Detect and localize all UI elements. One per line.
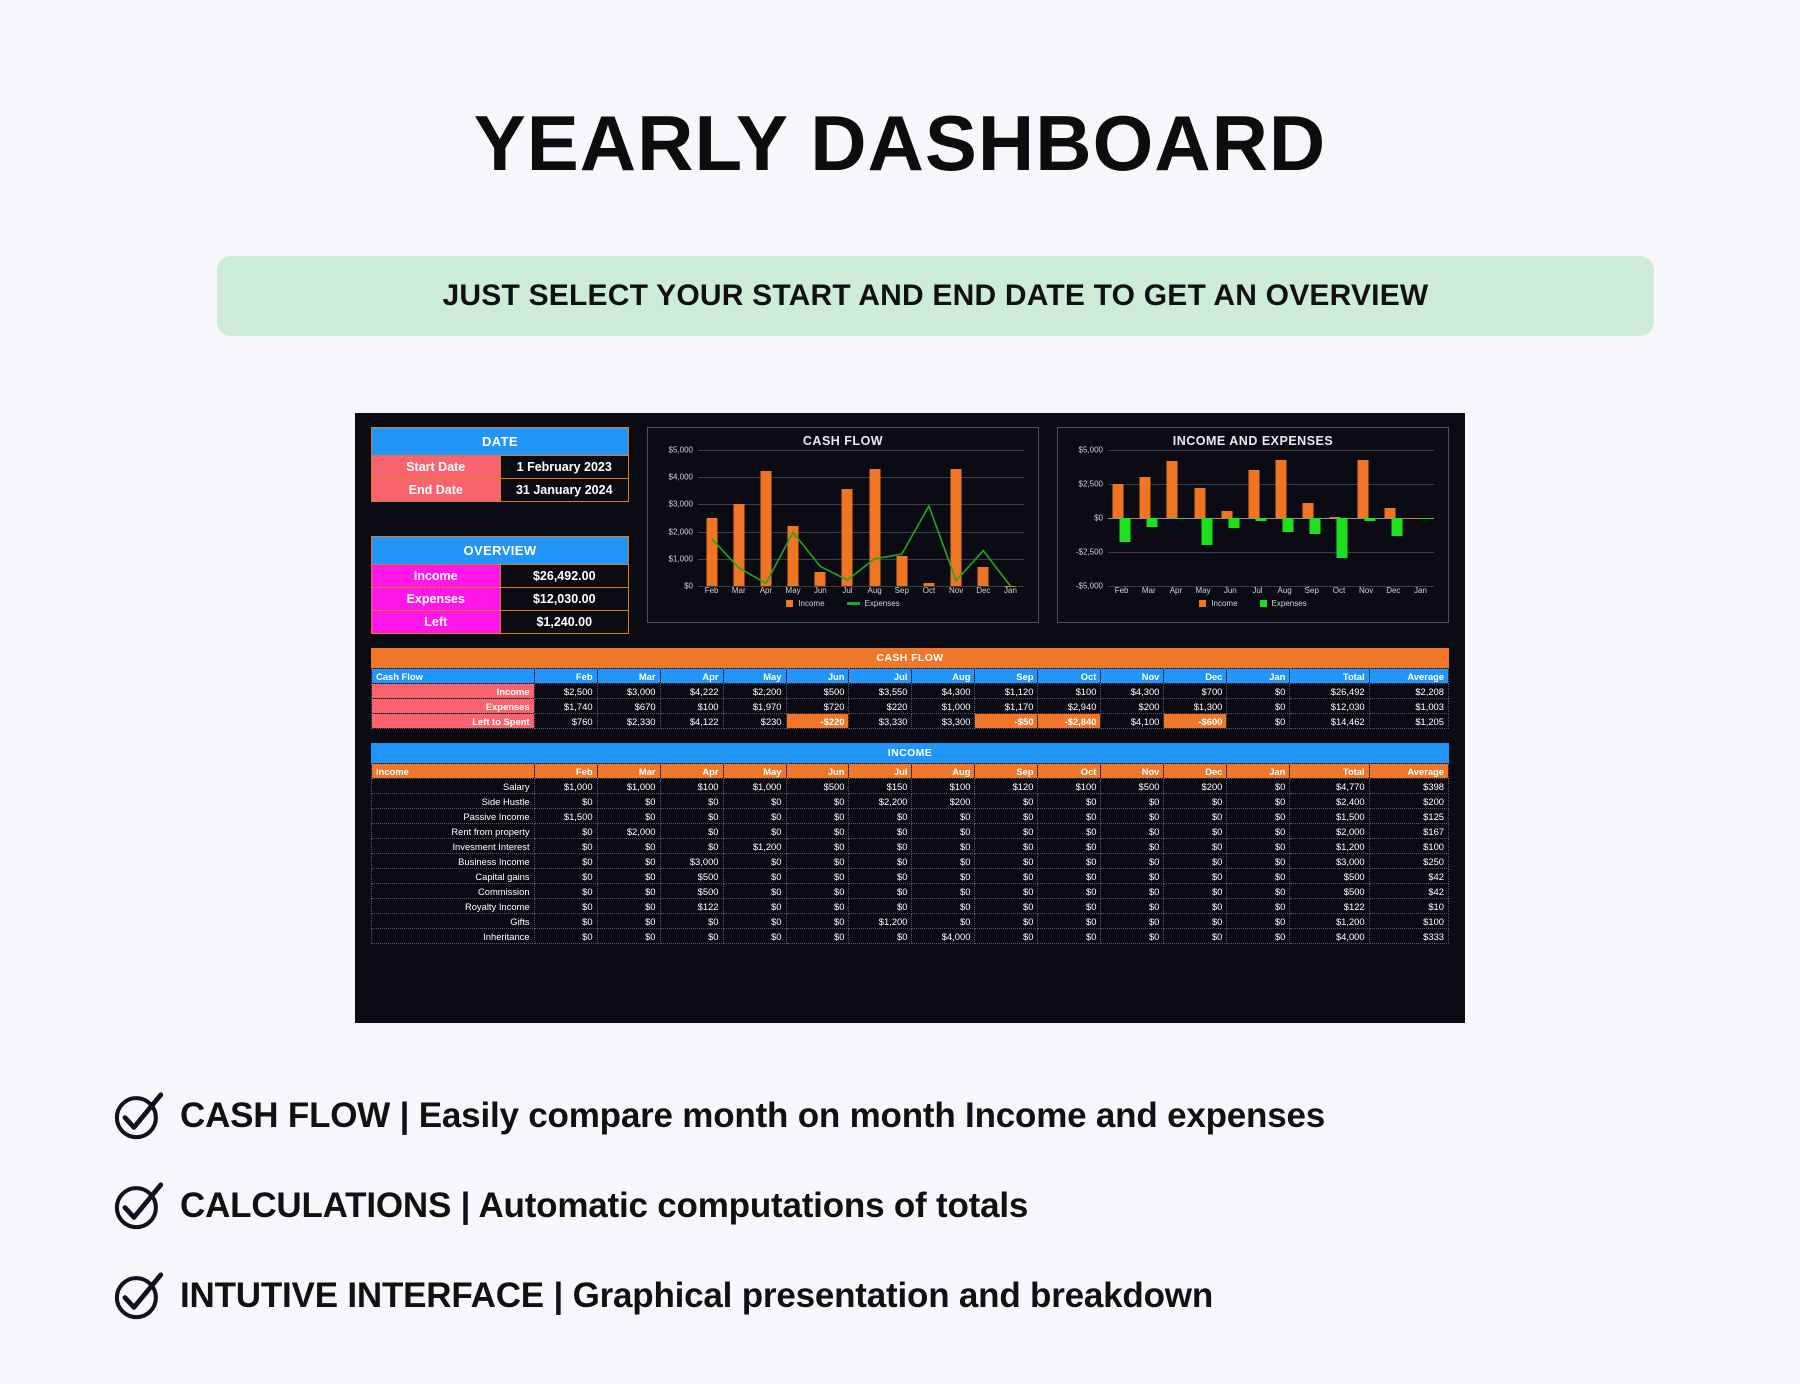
x-axis-tick-label: Dec — [1380, 586, 1407, 595]
feature-item: CALCULATIONS | Automatic computations of… — [112, 1180, 1732, 1232]
y-axis-tick-label: $0 — [684, 582, 693, 591]
x-axis-tick-label: Feb — [698, 586, 725, 595]
table-cell: $0 — [786, 839, 849, 854]
table-cell: $0 — [1227, 884, 1290, 899]
table-cell: $0 — [534, 899, 597, 914]
table-cell: $500 — [1101, 779, 1164, 794]
row-label: Commission — [372, 884, 535, 899]
table-cell: $0 — [849, 929, 912, 944]
legend-swatch — [847, 602, 860, 605]
table-cell: $0 — [912, 854, 975, 869]
table-cell: $0 — [1038, 824, 1101, 839]
table-cell: $150 — [849, 779, 912, 794]
table-row: Rent from property$0$2,000$0$0$0$0$0$0$0… — [372, 824, 1449, 839]
table-cell: $0 — [597, 794, 660, 809]
table-row: Expenses$1,740$670$100$1,970$720$220$1,0… — [372, 699, 1449, 714]
table-cell: $0 — [1164, 839, 1227, 854]
table-cell: $1,000 — [534, 779, 597, 794]
legend-label: Expenses — [865, 599, 900, 608]
bar-slot — [1217, 450, 1244, 586]
table-cell: $0 — [1227, 929, 1290, 944]
end-date-label: End Date — [372, 479, 501, 502]
table-cell: $0 — [912, 839, 975, 854]
table-cell: $2,208 — [1369, 684, 1448, 699]
table-row: Left $1,240.00 — [372, 611, 629, 634]
feature-heading: CALCULATIONS | — [180, 1186, 478, 1225]
table-cell: $0 — [660, 809, 723, 824]
table-cell: $120 — [975, 779, 1038, 794]
x-axis-tick-label: Aug — [1271, 586, 1298, 595]
table-cell: $122 — [1290, 899, 1369, 914]
overview-left-label: Left — [372, 611, 501, 634]
table-cell: $2,400 — [1290, 794, 1369, 809]
legend-item: Income — [786, 599, 824, 608]
table-cell: $4,100 — [1101, 714, 1164, 729]
y-axis-tick-label: $5,000 — [669, 446, 693, 455]
column-header: Jan — [1227, 764, 1290, 779]
table-cell: $700 — [1164, 684, 1227, 699]
table-cell: $0 — [597, 839, 660, 854]
table-cell: $0 — [912, 824, 975, 839]
table-cell: $0 — [723, 824, 786, 839]
bar — [1201, 518, 1212, 545]
start-date-value[interactable]: 1 February 2023 — [500, 456, 629, 479]
legend-label: Income — [798, 599, 824, 608]
x-axis-tick-label: Feb — [1108, 586, 1135, 595]
cash-flow-table: Cash FlowFebMarAprMayJunJulAugSepOctNovD… — [371, 668, 1449, 729]
table-cell: $0 — [1227, 854, 1290, 869]
income-table-banner: INCOME — [371, 743, 1449, 763]
bar — [1194, 488, 1205, 518]
table-cell: $0 — [1101, 824, 1164, 839]
table-cell: $2,200 — [723, 684, 786, 699]
table-cell: $3,000 — [597, 684, 660, 699]
table-cell: $0 — [1227, 839, 1290, 854]
row-label: Gifts — [372, 914, 535, 929]
table-cell: $250 — [1369, 854, 1448, 869]
column-header: Dec — [1164, 669, 1227, 684]
table-cell: $0 — [723, 854, 786, 869]
table-cell: $42 — [1369, 884, 1448, 899]
table-cell: $0 — [1164, 899, 1227, 914]
row-label: Salary — [372, 779, 535, 794]
table-cell: $0 — [723, 869, 786, 884]
table-cell: $3,330 — [849, 714, 912, 729]
column-header: Total — [1290, 764, 1369, 779]
bar-slot — [1407, 450, 1434, 586]
table-cell: $0 — [1101, 929, 1164, 944]
bar — [1221, 511, 1232, 518]
legend-swatch — [1199, 600, 1206, 607]
table-cell: $0 — [597, 929, 660, 944]
income-expenses-chart-title: INCOME AND EXPENSES — [1066, 434, 1440, 448]
date-panel-title: DATE — [372, 428, 629, 456]
feature-heading: CASH FLOW | — [180, 1096, 419, 1135]
table-row: Business Income$0$0$3,000$0$0$0$0$0$0$0$… — [372, 854, 1449, 869]
table-cell: $0 — [1227, 684, 1290, 699]
table-cell: $500 — [786, 684, 849, 699]
x-axis-tick-label: Dec — [970, 586, 997, 595]
table-cell: $0 — [723, 794, 786, 809]
table-cell: $125 — [1369, 809, 1448, 824]
row-label: Income — [372, 684, 535, 699]
table-cell: $0 — [849, 899, 912, 914]
circle-check-icon — [112, 1270, 164, 1322]
bar — [1337, 518, 1348, 558]
income-table: IncomeFebMarAprMayJunJulAugSepOctNovDecJ… — [371, 763, 1449, 944]
row-label: Rent from property — [372, 824, 535, 839]
feature-heading: INTUTIVE INTERFACE | — [180, 1276, 573, 1315]
overview-expenses-label: Expenses — [372, 588, 501, 611]
x-axis-tick-label: Sep — [1298, 586, 1325, 595]
table-cell: $0 — [849, 854, 912, 869]
bar-slot — [1190, 450, 1217, 586]
table-corner-label: Income — [372, 764, 535, 779]
bar-slot — [1298, 450, 1325, 586]
income-expenses-legend: IncomeExpenses — [1066, 599, 1440, 608]
table-cell: $0 — [786, 809, 849, 824]
table-cell: $200 — [1369, 794, 1448, 809]
table-cell: $0 — [534, 824, 597, 839]
table-row: Passive Income$1,500$0$0$0$0$0$0$0$0$0$0… — [372, 809, 1449, 824]
column-header: Mar — [597, 764, 660, 779]
table-cell: $0 — [975, 869, 1038, 884]
y-axis-tick-label: $0 — [1094, 514, 1103, 523]
table-cell: $500 — [660, 884, 723, 899]
table-cell: $0 — [597, 854, 660, 869]
table-row: Side Hustle$0$0$0$0$0$2,200$200$0$0$0$0$… — [372, 794, 1449, 809]
table-cell: $0 — [660, 794, 723, 809]
table-cell: $0 — [660, 929, 723, 944]
table-cell: $1,200 — [1290, 914, 1369, 929]
bar — [1147, 518, 1158, 527]
legend-label: Expenses — [1272, 599, 1307, 608]
bar — [1248, 470, 1259, 518]
table-cell: $1,003 — [1369, 699, 1448, 714]
bar — [1283, 518, 1294, 532]
table-cell: $0 — [534, 914, 597, 929]
bar — [1276, 460, 1287, 518]
cash-flow-plot-area: $5,000$4,000$3,000$2,000$1,000$0 — [698, 450, 1024, 586]
table-cell: $500 — [786, 779, 849, 794]
table-cell: $0 — [1038, 854, 1101, 869]
table-cell: $0 — [975, 854, 1038, 869]
table-cell: $100 — [660, 779, 723, 794]
table-cell: $0 — [1101, 854, 1164, 869]
bar — [1255, 518, 1266, 521]
table-cell: $0 — [534, 794, 597, 809]
y-axis-tick-label: $5,000 — [1079, 446, 1103, 455]
table-row: Gifts$0$0$0$0$0$1,200$0$0$0$0$0$0$1,200$… — [372, 914, 1449, 929]
table-cell: $0 — [534, 884, 597, 899]
bar — [1005, 586, 1016, 587]
bar — [1364, 518, 1375, 521]
table-cell: $42 — [1369, 869, 1448, 884]
dashboard-screenshot: DATE Start Date 1 February 2023 End Date… — [355, 413, 1465, 1023]
table-row: Expenses $12,030.00 — [372, 588, 629, 611]
table-cell: $2,500 — [534, 684, 597, 699]
table-cell: $100 — [912, 779, 975, 794]
feature-description: Easily compare month on month Income and… — [419, 1096, 1325, 1135]
table-cell: $0 — [1164, 854, 1227, 869]
x-axis-tick-label: Mar — [1135, 586, 1162, 595]
table-row: Inheritance$0$0$0$0$0$0$4,000$0$0$0$0$0$… — [372, 929, 1449, 944]
row-label: Expenses — [372, 699, 535, 714]
x-axis-tick-label: Jul — [834, 586, 861, 595]
table-cell: $0 — [786, 914, 849, 929]
table-cell: $0 — [975, 824, 1038, 839]
table-cell: $4,222 — [660, 684, 723, 699]
table-cell: $2,200 — [849, 794, 912, 809]
table-cell: $0 — [849, 824, 912, 839]
column-header: Sep — [975, 669, 1038, 684]
legend-item: Income — [1199, 599, 1237, 608]
table-cell: $26,492 — [1290, 684, 1369, 699]
x-axis-tick-label: Aug — [861, 586, 888, 595]
dashboard-top-row: DATE Start Date 1 February 2023 End Date… — [371, 427, 1449, 634]
table-cell: $398 — [1369, 779, 1448, 794]
table-cell: $720 — [786, 699, 849, 714]
column-header: Average — [1369, 764, 1448, 779]
table-cell: $0 — [849, 869, 912, 884]
table-cell: $0 — [1164, 824, 1227, 839]
column-header: Aug — [912, 669, 975, 684]
row-label: Business Income — [372, 854, 535, 869]
table-row: Salary$1,000$1,000$100$1,000$500$150$100… — [372, 779, 1449, 794]
income-expenses-plot-area: $5,000$2,500$0-$2,500-$5,000 — [1108, 450, 1434, 586]
feature-text: CASH FLOW | Easily compare month on mont… — [180, 1096, 1325, 1136]
feature-text: CALCULATIONS | Automatic computations of… — [180, 1186, 1028, 1226]
table-cell: -$50 — [975, 714, 1038, 729]
bar-slot — [1244, 450, 1271, 586]
overview-income-value: $26,492.00 — [500, 565, 629, 588]
column-header: Oct — [1038, 764, 1101, 779]
bar — [1310, 518, 1321, 534]
table-row: Commission$0$0$500$0$0$0$0$0$0$0$0$0$500… — [372, 884, 1449, 899]
table-cell: $0 — [1101, 884, 1164, 899]
subtitle-text: JUST SELECT YOUR START AND END DATE TO G… — [443, 279, 1429, 313]
table-cell: $167 — [1369, 824, 1448, 839]
table-cell: $0 — [660, 839, 723, 854]
table-cell: $0 — [786, 854, 849, 869]
table-cell: $10 — [1369, 899, 1448, 914]
column-header: Nov — [1101, 669, 1164, 684]
column-header: Jun — [786, 669, 849, 684]
bar — [1174, 518, 1185, 519]
gridline — [698, 586, 1024, 587]
table-cell: $1,000 — [597, 779, 660, 794]
table-cell: $1,500 — [534, 809, 597, 824]
table-cell: $0 — [849, 884, 912, 899]
table-cell: $0 — [1227, 824, 1290, 839]
panel-spacer — [371, 502, 629, 536]
table-cell: $0 — [1164, 929, 1227, 944]
info-panels: DATE Start Date 1 February 2023 End Date… — [371, 427, 629, 634]
legend-label: Income — [1211, 599, 1237, 608]
row-label: Capital gains — [372, 869, 535, 884]
x-axis-tick-label: Jan — [997, 586, 1024, 595]
legend-item: Expenses — [847, 599, 900, 608]
table-cell: $0 — [1227, 914, 1290, 929]
x-axis-tick-label: Jan — [1407, 586, 1434, 595]
table-cell: $0 — [1038, 794, 1101, 809]
table-cell: $0 — [660, 914, 723, 929]
bar-slot — [1271, 450, 1298, 586]
table-cell: $0 — [1038, 899, 1101, 914]
table-cell: $2,330 — [597, 714, 660, 729]
x-axis-tick-label: May — [1190, 586, 1217, 595]
column-header: Nov — [1101, 764, 1164, 779]
table-cell: $1,120 — [975, 684, 1038, 699]
column-header: Apr — [660, 764, 723, 779]
y-axis-tick-label: $4,000 — [669, 473, 693, 482]
bar-slot — [1325, 450, 1352, 586]
column-header: Mar — [597, 669, 660, 684]
table-cell: $0 — [912, 884, 975, 899]
table-cell: $1,170 — [975, 699, 1038, 714]
table-cell: $200 — [912, 794, 975, 809]
table-cell: $4,300 — [912, 684, 975, 699]
bar-slot — [1353, 450, 1380, 586]
column-header: Dec — [1164, 764, 1227, 779]
row-label: Left to Spent — [372, 714, 535, 729]
table-cell: $0 — [1164, 884, 1227, 899]
x-axis-tick-label: Jun — [807, 586, 834, 595]
bar — [1357, 460, 1368, 518]
line-series — [698, 450, 1024, 586]
income-expenses-x-axis: FebMarAprMayJunJulAugSepOctNovDecJan — [1108, 586, 1434, 595]
table-cell: $0 — [723, 929, 786, 944]
table-cell: $3,300 — [912, 714, 975, 729]
table-cell: $760 — [534, 714, 597, 729]
column-header: May — [723, 764, 786, 779]
y-axis-tick-label: $2,000 — [669, 527, 693, 536]
end-date-value[interactable]: 31 January 2024 — [500, 479, 629, 502]
table-cell: $0 — [1038, 809, 1101, 824]
table-cell: $0 — [534, 929, 597, 944]
table-cell: $220 — [849, 699, 912, 714]
table-cell: $2,940 — [1038, 699, 1101, 714]
table-cell: $2,000 — [597, 824, 660, 839]
table-cell: $500 — [660, 869, 723, 884]
bar — [1384, 508, 1395, 518]
table-cell: $0 — [1227, 809, 1290, 824]
table-cell: $200 — [1101, 699, 1164, 714]
table-cell: $0 — [1038, 869, 1101, 884]
table-cell: $14,462 — [1290, 714, 1369, 729]
feature-description: Automatic computations of totals — [478, 1186, 1028, 1225]
table-cell: $0 — [1227, 714, 1290, 729]
bar — [1391, 518, 1402, 536]
legend-swatch — [1260, 600, 1267, 607]
table-cell: $0 — [975, 839, 1038, 854]
column-header: Jul — [849, 669, 912, 684]
table-cell: $4,000 — [1290, 929, 1369, 944]
table-cell: $0 — [1038, 914, 1101, 929]
cash-flow-chart: CASH FLOW $5,000$4,000$3,000$2,000$1,000… — [647, 427, 1039, 623]
table-cell: $1,205 — [1369, 714, 1448, 729]
column-header: Apr — [660, 669, 723, 684]
table-cell: $100 — [660, 699, 723, 714]
table-cell: $0 — [975, 899, 1038, 914]
x-axis-tick-label: Oct — [1325, 586, 1352, 595]
table-cell: $670 — [597, 699, 660, 714]
table-cell: $0 — [912, 914, 975, 929]
table-cell: $0 — [786, 899, 849, 914]
table-cell: $0 — [1101, 809, 1164, 824]
legend-item: Expenses — [1260, 599, 1307, 608]
table-cell: -$220 — [786, 714, 849, 729]
column-header: Average — [1369, 669, 1448, 684]
table-cell: $2,000 — [1290, 824, 1369, 839]
table-cell: $1,200 — [723, 839, 786, 854]
column-header: Sep — [975, 764, 1038, 779]
column-header: May — [723, 669, 786, 684]
column-header: Feb — [534, 764, 597, 779]
table-row: End Date 31 January 2024 — [372, 479, 629, 502]
table-cell: $12,030 — [1290, 699, 1369, 714]
table-cell: $0 — [849, 839, 912, 854]
column-header: Jul — [849, 764, 912, 779]
feature-text: INTUTIVE INTERFACE | Graphical presentat… — [180, 1276, 1213, 1316]
table-cell: $0 — [597, 914, 660, 929]
table-cell: $0 — [786, 869, 849, 884]
table-cell: $1,200 — [1290, 839, 1369, 854]
y-axis-tick-label: -$5,000 — [1076, 582, 1103, 591]
column-header: Aug — [912, 764, 975, 779]
table-row: Start Date 1 February 2023 — [372, 456, 629, 479]
x-axis-tick-label: Oct — [915, 586, 942, 595]
table-cell: $0 — [723, 809, 786, 824]
bar-slot — [1380, 450, 1407, 586]
table-cell: $0 — [597, 869, 660, 884]
table-cell: $4,300 — [1101, 684, 1164, 699]
table-cell: $0 — [1164, 809, 1227, 824]
table-cell: $3,000 — [1290, 854, 1369, 869]
page-title: YEARLY DASHBOARD — [0, 98, 1800, 189]
table-cell: $200 — [1164, 779, 1227, 794]
table-cell: $0 — [1227, 699, 1290, 714]
x-axis-tick-label: Jul — [1244, 586, 1271, 595]
table-cell: $0 — [534, 869, 597, 884]
start-date-label: Start Date — [372, 456, 501, 479]
table-cell: $1,740 — [534, 699, 597, 714]
column-header: Total — [1290, 669, 1369, 684]
table-cell: $4,122 — [660, 714, 723, 729]
circle-check-icon — [112, 1180, 164, 1232]
column-header: Feb — [534, 669, 597, 684]
table-cell: -$600 — [1164, 714, 1227, 729]
row-label: Side Hustle — [372, 794, 535, 809]
table-cell: $0 — [1164, 914, 1227, 929]
overview-left-value: $1,240.00 — [500, 611, 629, 634]
feature-item: INTUTIVE INTERFACE | Graphical presentat… — [112, 1270, 1732, 1322]
table-cell: $0 — [534, 839, 597, 854]
table-cell: $0 — [597, 899, 660, 914]
table-cell: $0 — [975, 809, 1038, 824]
table-cell: $1,000 — [723, 779, 786, 794]
table-cell: $0 — [1164, 794, 1227, 809]
row-label: Passive Income — [372, 809, 535, 824]
table-row: Invesment Interest$0$0$0$1,200$0$0$0$0$0… — [372, 839, 1449, 854]
overview-panel: OVERVIEW Income $26,492.00 Expenses $12,… — [371, 536, 629, 634]
x-axis-tick-label: Apr — [1162, 586, 1189, 595]
x-axis-tick-label: Nov — [943, 586, 970, 595]
table-cell: $0 — [1101, 794, 1164, 809]
cash-flow-table-wrap: CASH FLOW Cash FlowFebMarAprMayJunJulAug… — [371, 648, 1449, 729]
table-cell: $1,500 — [1290, 809, 1369, 824]
table-cell: $0 — [1101, 914, 1164, 929]
